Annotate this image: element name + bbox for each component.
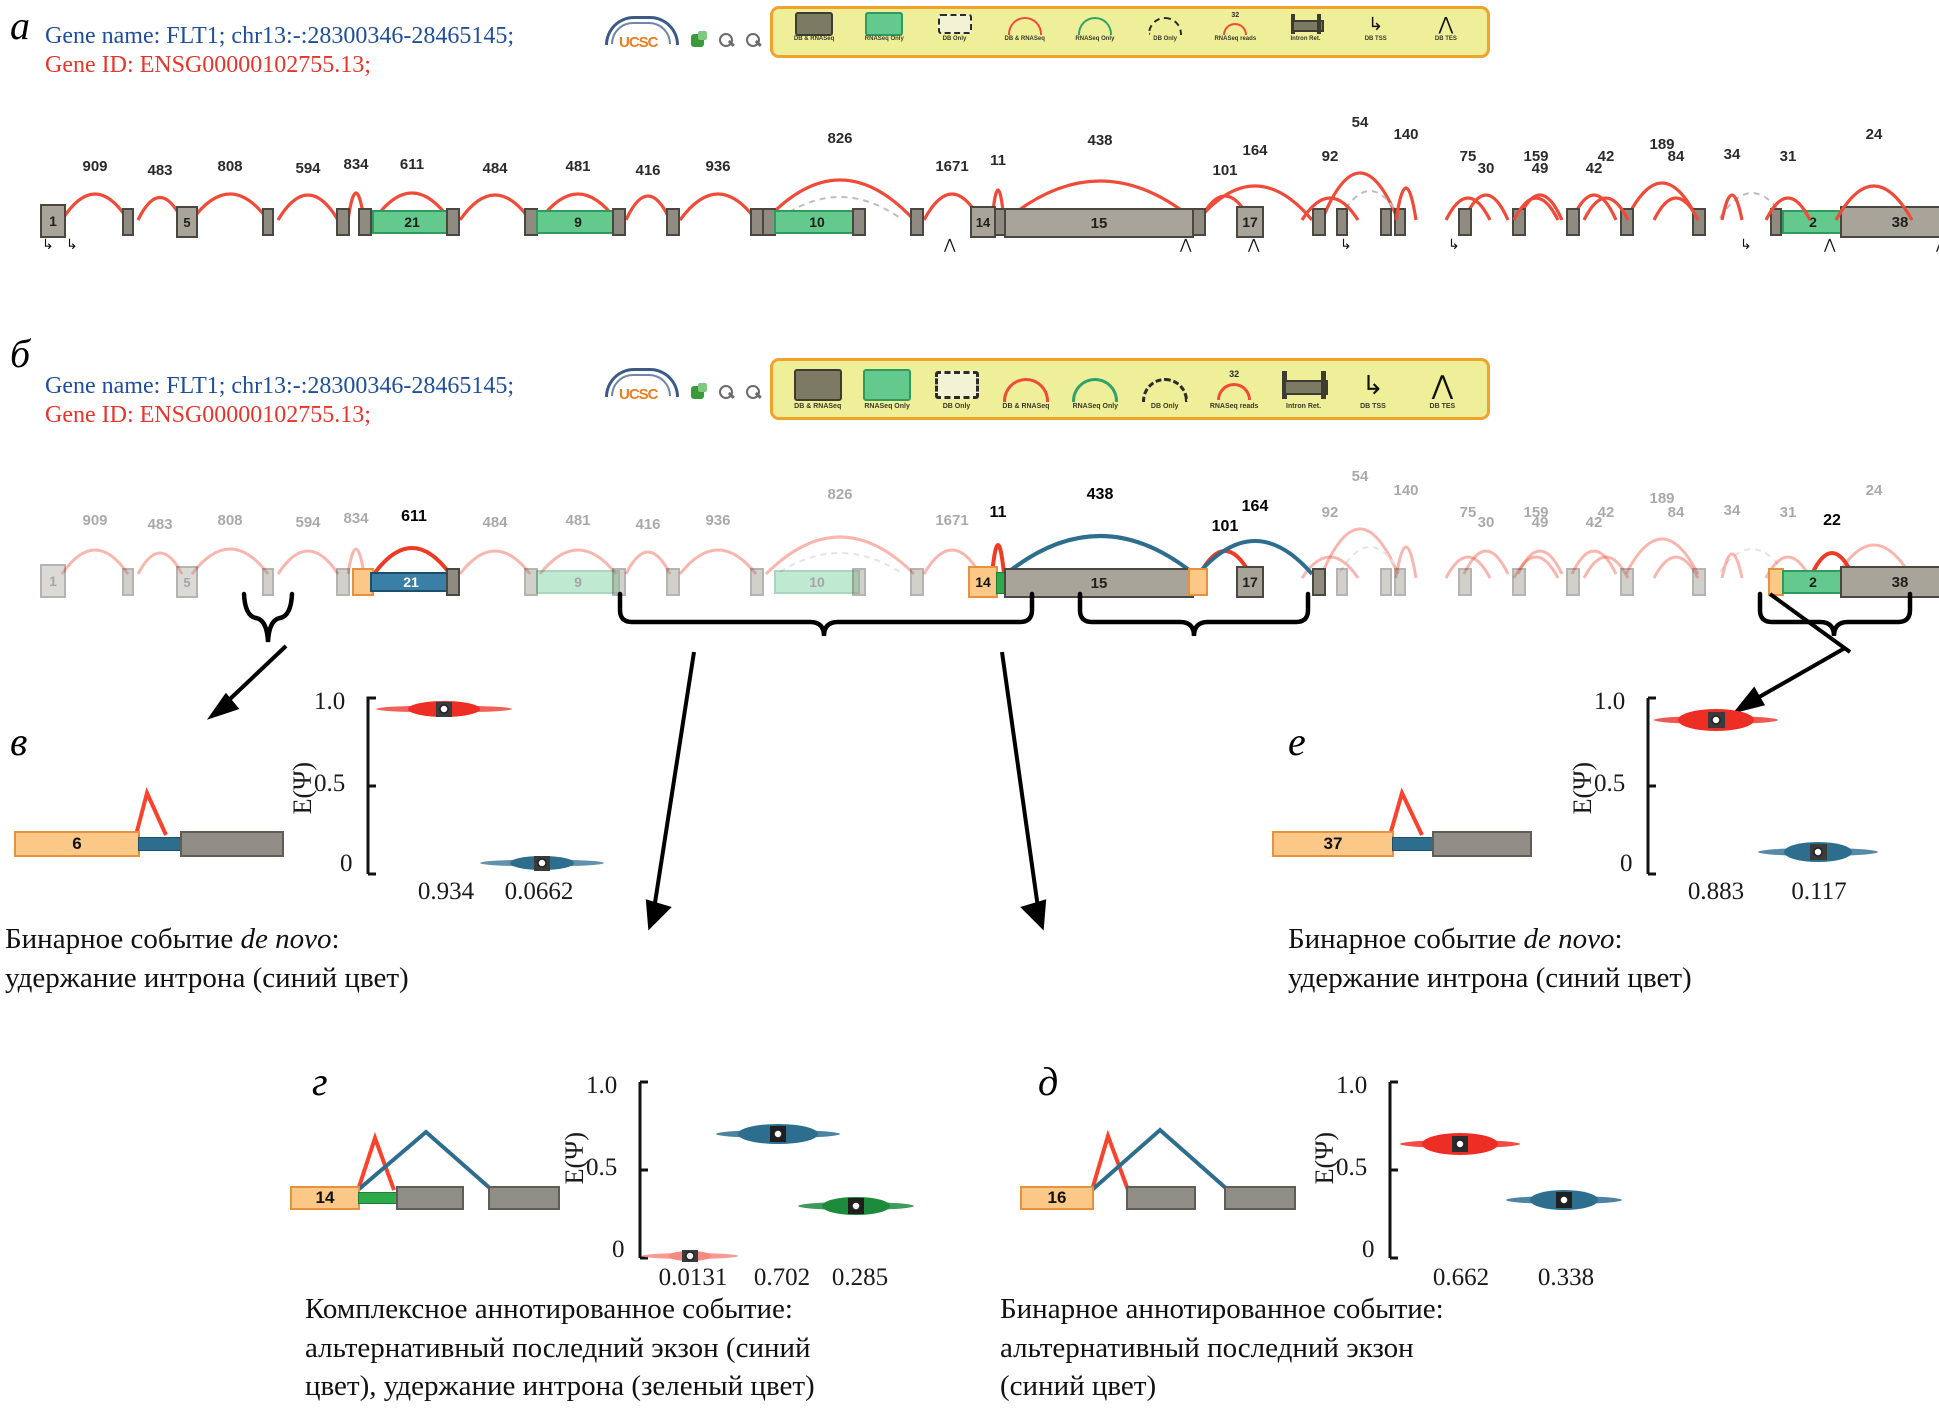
legend-item-db-tss: ↳DB TSS [1341,13,1411,42]
legend-item-db-only-box: DB Only [922,368,991,410]
violin-e-tick-1: 1.0 [1594,688,1625,716]
violin-g-tick-05: 0.5 [586,1154,617,1182]
jnum-bold: 101 [1212,518,1239,536]
violin-d-value-0: 0.662 [1408,1264,1514,1292]
violin-d-svg [1388,1082,1618,1258]
exon-21[interactable]: 21 [372,210,452,234]
jnum-bold: 438 [1087,486,1114,504]
gene-id-line: Gene ID: ENSG00000102755.13; [45,51,514,80]
zoom-out-icon[interactable] [744,31,764,51]
legend-item-db-tes: ⋀DB TES [1411,13,1481,42]
legend-item-db-rnaseq-arc: DB & RNASeq [990,13,1060,42]
violin-plot-v: E(Ψ) 1.0 0.5 0 0.934 0.0662 [288,688,588,918]
arrow-head-d [1024,902,1044,926]
arc-reads-icon [1217,383,1251,400]
zoom-tree-icon[interactable] [690,31,710,51]
gene-header-b: Gene name: FLT1; chr13:-:28300346-284651… [45,372,514,431]
violin-g-tick-1: 1.0 [586,1072,617,1100]
jnum-bold: 22 [1823,512,1841,530]
reads-count: 32 [1211,369,1257,379]
caption-v-em: de novo [240,923,331,955]
panel-letter-v: в [10,718,27,765]
legend-item-db-only-box: DB Only [919,13,989,42]
violin-v-tick-1: 1.0 [314,688,345,716]
panel-letter-e: е [1288,718,1306,765]
violin-d-tick-1: 1.0 [1336,1072,1367,1100]
mini-exon-6[interactable]: 6 [14,831,140,857]
violin-plot-d: E(Ψ) 1.0 0.5 0 0.662 0.338 [1310,1048,1640,1288]
brace-d [1080,594,1308,636]
jnum: 24 [1866,126,1883,143]
brace-g [620,594,1032,636]
tss-mark-icon: ↳ [1340,236,1352,253]
gene-name-line: Gene name: FLT1; chr13:-:28300346-284651… [45,22,514,51]
brace-e [1760,594,1910,636]
exon-mark[interactable] [358,208,372,236]
jnum: 54 [1352,468,1369,485]
violin-shape-1 [480,856,604,871]
exon-mark[interactable] [910,208,924,236]
exon-14[interactable]: 14 [970,206,996,238]
violin-g-tick-0: 0 [612,1236,625,1264]
mini-exon-gray-e[interactable] [1432,831,1532,857]
exon-21-highlight[interactable]: 21 [370,572,452,592]
arc-reads-icon [1223,23,1247,35]
caption-e-l1b: : [1614,923,1622,955]
jnum-bold: 164 [1242,498,1269,516]
legend-item-rnaseq-only-arc: RNASeq Only [1060,13,1130,42]
splice-diagram-e: 37 [1272,765,1552,860]
violin-shape-2 [798,1197,914,1215]
violin-g-svg [638,1082,888,1258]
tes-mark-icon: ⋀ [944,236,955,253]
panel-letter-g: г [312,1058,328,1105]
legend-item-db-tss: ↳DB TSS [1338,368,1407,410]
ucsc-logo-b[interactable]: UCSC [605,366,673,412]
box-dashed-icon [935,371,979,399]
legend-item-rnaseq-only-box: RNASeq Only [852,368,921,410]
caption-v: Бинарное событие de novo: удержание интр… [5,920,625,997]
mini-exon-16[interactable]: 16 [1020,1186,1094,1210]
arc-red-icon [1003,378,1049,402]
splice-diagram-g: 14 [290,1100,580,1212]
violin-shape-0 [376,701,512,717]
legend-item-rnaseq-reads: 32RNASeq reads [1200,13,1270,42]
gene-header-a: Gene name: FLT1; chr13:-:28300346-284651… [45,22,514,81]
tss-mark-icon: ↳ [42,236,54,253]
violin-g-value-2: 0.285 [810,1264,910,1292]
junction-labels-b-bold: 611 11 438 101 164 22 [40,490,1920,570]
tss-icon: ↳ [1362,372,1384,398]
violin-e-tick-05: 0.5 [1594,770,1625,798]
legend-item-db-only-arc: DB Only [1130,368,1199,410]
caption-v-l1: Бинарное событие [5,923,240,955]
violin-d-tick-0: 0 [1362,1236,1375,1264]
intron-retention-icon [1280,371,1328,399]
panel-letter-b: б [10,330,30,377]
box-solid-icon [794,369,842,401]
violin-shape-1 [1506,1190,1622,1210]
legend-item-db-rnaseq-box: DB & RNASeq [783,368,852,410]
tes-icon: ⋀ [1439,11,1454,37]
box-dashed-icon [938,14,972,34]
brace-v [244,594,292,642]
tss-mark-icon: ↳ [66,236,78,253]
violin-plot-e: E(Ψ) 1.0 0.5 0 0.883 0.117 [1568,688,1868,918]
caption-v-l2: удержание интрона (синий цвет) [5,959,625,998]
caption-e: Бинарное событие de novo: удержание интр… [1288,920,1908,997]
violin-shape-0 [642,1250,738,1262]
legend-item-rnaseq-only-box: RNASeq Only [849,13,919,42]
gene-name-line: Gene name: FLT1; chr13:-:28300346-284651… [45,372,514,401]
blue-splice-arc-d [1092,1130,1228,1190]
caption-v-l1b: : [331,923,339,955]
jnum: 140 [1393,126,1418,143]
panel-letter-a: а [10,2,30,49]
box-green-icon [863,369,911,401]
caption-d: Бинарное аннотированное событие: альтерн… [1000,1290,1620,1406]
exon-5[interactable]: 5 [176,206,198,238]
mini-exon-gray-d1[interactable] [1126,1186,1196,1210]
zoom-in-icon[interactable] [717,383,737,403]
gene-id-line: Gene ID: ENSG00000102755.13; [45,401,514,430]
exon-9[interactable]: 9 [536,210,620,234]
red-splice-arc-v [136,793,166,835]
violin-shape-0 [1400,1133,1520,1155]
caption-e-l1: Бинарное событие [1288,923,1523,955]
mini-intron-retention-e[interactable] [1392,837,1434,851]
tes-icon: ⋀ [1432,372,1453,398]
jnum-bold: 611 [401,508,427,526]
exon-mark[interactable] [446,208,460,236]
violin-e-tick-0: 0 [1620,850,1633,878]
caption-d-l3: (синий цвет) [1000,1367,1620,1406]
legend-box-a: DB & RNASeq RNASeq Only DB Only DB & RNA… [770,6,1490,58]
mini-exon-14[interactable]: 14 [290,1186,360,1210]
arc-green-icon [1072,378,1118,402]
violin-v-svg [366,698,586,874]
exon-mark[interactable] [852,208,866,236]
tes-mark-icon: ⋀ [1248,236,1259,253]
mini-intron-retention-g[interactable] [358,1192,398,1204]
panel-letter-d: д [1038,1058,1058,1105]
violin-e-svg [1646,698,1866,874]
legend-item-db-rnaseq-box: DB & RNASeq [779,13,849,42]
legend-item-db-tes: ⋀DB TES [1408,368,1477,410]
arc-dashed-icon [1148,17,1182,35]
caption-d-l2: альтернативный последний экзон [1000,1329,1620,1368]
exon-mark[interactable] [666,208,680,236]
caption-e-em: de novo [1523,923,1614,955]
arc-green-icon [1078,17,1112,35]
tss-icon: ↳ [1368,11,1383,37]
violin-shape-1 [716,1124,840,1144]
legend-item-db-only-arc: DB Only [1130,13,1200,42]
legend-item-rnaseq-reads: 32RNASeq reads [1199,368,1268,410]
legend-item-intron-ret: Intron Ret. [1270,13,1340,42]
violin-e-value-1: 0.117 [1764,878,1874,906]
legend-item-db-rnaseq-arc: DB & RNASeq [991,368,1060,410]
violin-shape-0 [1654,709,1778,731]
mini-exon-gray-d2[interactable] [1224,1186,1296,1210]
caption-g-l3: цвет), удержание интрона (зеленый цвет) [305,1367,955,1406]
caption-g-l2: альтернативный последний экзон (синий [305,1329,955,1368]
ucsc-logo-a[interactable]: UCSC [605,14,673,60]
box-green-icon [865,12,903,36]
exon-10[interactable]: 10 [774,210,860,234]
intron-retention-icon [1289,14,1323,34]
arc-red-icon [1008,17,1042,35]
legend-item-rnaseq-only-arc: RNASeq Only [1061,368,1130,410]
tes-mark-icon: ⋀ [1180,236,1191,253]
zoom-tree-icon[interactable] [690,383,710,403]
exon-mark[interactable] [262,208,274,236]
exon-15[interactable]: 15 [1004,208,1194,238]
violin-shape-1 [1758,842,1878,862]
ucsc-label: UCSC [619,34,658,51]
tes-mark-icon: ⋀ [1824,236,1835,253]
reads-count: 32 [1218,12,1252,19]
box-solid-icon [795,12,833,36]
caption-e-l2: удержание интрона (синий цвет) [1288,959,1908,998]
splice-diagram-v: 6 [14,765,294,860]
mini-exon-gray-v[interactable] [180,831,284,857]
violin-v-value-0: 0.934 [396,878,496,906]
exon-mark[interactable] [1192,208,1206,236]
exon-mark[interactable] [336,208,350,236]
tss-mark-icon: ↳ [1740,236,1752,253]
violin-d-value-1: 0.338 [1514,1264,1618,1292]
splice-diagram-d: 16 [1020,1100,1310,1212]
mini-exon-37[interactable]: 37 [1272,831,1394,857]
jnum-bold: 11 [990,504,1007,522]
mini-intron-retention-v[interactable] [138,837,182,851]
tss-mark-icon: ↳ [1448,236,1460,253]
legend-item-intron-ret: Intron Ret. [1269,368,1338,410]
exon-mark[interactable] [612,208,626,236]
arc-dashed-icon [1142,378,1188,402]
zoom-out-icon[interactable] [744,383,764,403]
ucsc-label: UCSC [619,386,658,403]
arrow-line-g [652,652,694,922]
caption-g: Комплексное аннотированное событие: альт… [305,1290,955,1406]
exon-mark[interactable] [122,208,134,236]
red-splice-arc-e [1390,793,1422,835]
caption-g-l1: Комплексное аннотированное событие: [305,1290,955,1329]
legend-box-b: DB & RNASeq RNASeq Only DB Only DB & RNA… [770,358,1490,420]
violin-v-tick-0: 0 [340,850,353,878]
violin-v-tick-05: 0.5 [314,770,345,798]
violin-v-value-1: 0.0662 [484,878,594,906]
violin-plot-g: E(Ψ) 1.0 0.5 0 0.0131 0.702 0.285 [560,1048,900,1288]
caption-d-l1: Бинарное аннотированное событие: [1000,1290,1620,1329]
arrow-line-d [1002,652,1040,922]
mini-exon-gray-g1[interactable] [396,1186,464,1210]
zoom-in-icon[interactable] [717,31,737,51]
violin-e-value-0: 0.883 [1666,878,1766,906]
arrow-head-g [648,902,668,926]
jnum: 54 [1352,114,1369,131]
mini-exon-gray-g2[interactable] [488,1186,560,1210]
track-a-right-arcs [1240,160,1939,227]
violin-d-tick-05: 0.5 [1336,1154,1367,1182]
